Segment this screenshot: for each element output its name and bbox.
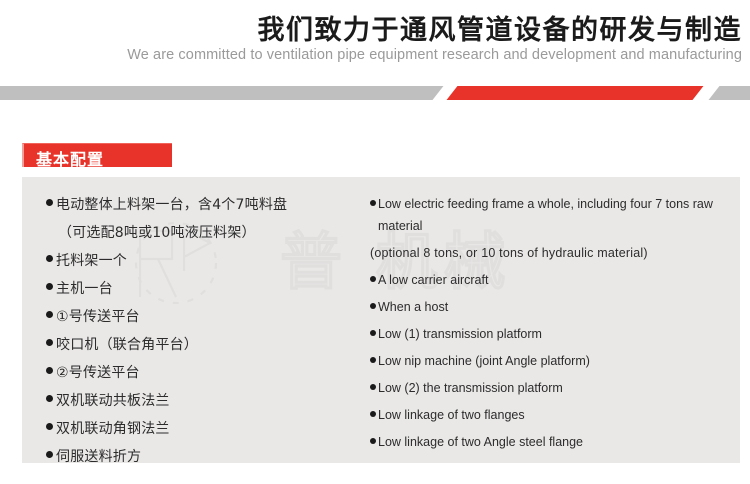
bullet-icon [46, 451, 53, 458]
list-item: 主机一台 [46, 277, 376, 301]
spec-content-panel: 普 机械 电动整体上料架一台，含4个7吨料盘 （可选配8吨或10吨液压料架） 托… [22, 177, 740, 463]
list-item: A low carrier aircraft [370, 269, 736, 291]
list-item-label: Low servo feed fold [378, 458, 486, 463]
list-item-label: 双机联动角钢法兰 [56, 417, 170, 441]
bullet-icon [370, 200, 376, 206]
bullet-icon [46, 199, 53, 206]
list-item-label: Low linkage of two Angle steel flange [378, 431, 583, 453]
list-item: Low electric feeding frame a whole, incl… [370, 193, 736, 237]
bullet-icon [46, 367, 53, 374]
list-item: Low (1) transmission platform [370, 323, 736, 345]
list-item: 双机联动共板法兰 [46, 389, 376, 413]
list-item: Low (2) the transmission platform [370, 377, 736, 399]
section-title-badge: 基本配置 [22, 143, 172, 167]
bullet-icon [46, 339, 53, 346]
list-item-label: A low carrier aircraft [378, 269, 488, 291]
list-item-label: ①号传送平台 [56, 305, 140, 329]
bullet-icon [46, 395, 53, 402]
decorative-stripe-band [0, 86, 750, 100]
page-header: 我们致力于通风管道设备的研发与制造 We are committed to ve… [0, 0, 750, 86]
list-item-label: When a host [378, 296, 448, 318]
list-item-subline: （可选配8吨或10吨液压料架） [46, 221, 376, 245]
list-item-label: 伺服送料折方 [56, 445, 141, 463]
bullet-icon [370, 357, 376, 363]
section-title-label: 基本配置 [36, 146, 104, 170]
list-item: Low nip machine (joint Angle platform) [370, 350, 736, 372]
list-item: When a host [370, 296, 736, 318]
list-item: 电动整体上料架一台，含4个7吨料盘 [46, 193, 376, 217]
list-item-label: ②号传送平台 [56, 361, 140, 385]
bullet-icon [46, 423, 53, 430]
page-title: 我们致力于通风管道设备的研发与制造 [258, 8, 743, 47]
stripe-red-accent [447, 86, 706, 100]
page-subtitle: We are committed to ventilation pipe equ… [127, 47, 742, 63]
bullet-icon [370, 384, 376, 390]
list-item: Low linkage of two Angle steel flange [370, 431, 736, 453]
list-item: ①号传送平台 [46, 305, 376, 329]
spec-list-chinese: 电动整体上料架一台，含4个7吨料盘 （可选配8吨或10吨液压料架） 托料架一个 … [46, 193, 376, 463]
list-item: 双机联动角钢法兰 [46, 417, 376, 441]
bullet-icon [370, 330, 376, 336]
bullet-icon [370, 438, 376, 444]
bullet-icon [370, 276, 376, 282]
list-item-label: Low nip machine (joint Angle platform) [378, 350, 590, 372]
list-item: Low linkage of two flanges [370, 404, 736, 426]
spec-list-english: Low electric feeding frame a whole, incl… [370, 193, 736, 463]
list-item-label: 咬口机（联合角平台） [56, 333, 198, 357]
list-item-label: 托料架一个 [56, 249, 127, 273]
list-item-label: Low (1) transmission platform [378, 323, 542, 345]
bullet-icon [370, 303, 376, 309]
bullet-icon [370, 411, 376, 417]
list-item-label: 电动整体上料架一台，含4个7吨料盘 [56, 193, 287, 217]
list-item: Low servo feed fold [370, 458, 736, 463]
list-item: 托料架一个 [46, 249, 376, 273]
bullet-icon [46, 283, 53, 290]
list-item-label: Low (2) the transmission platform [378, 377, 563, 399]
list-item: ②号传送平台 [46, 361, 376, 385]
list-item-subline: (optional 8 tons, or 10 tons of hydrauli… [370, 242, 736, 264]
bullet-icon [46, 255, 53, 262]
list-item: 咬口机（联合角平台） [46, 333, 376, 357]
bullet-icon [46, 311, 53, 318]
list-item-label: Low electric feeding frame a whole, incl… [378, 193, 736, 237]
list-item-label: 双机联动共板法兰 [56, 389, 170, 413]
list-item-label: 主机一台 [56, 277, 113, 301]
list-item-label: Low linkage of two flanges [378, 404, 525, 426]
list-item: 伺服送料折方 [46, 445, 376, 463]
